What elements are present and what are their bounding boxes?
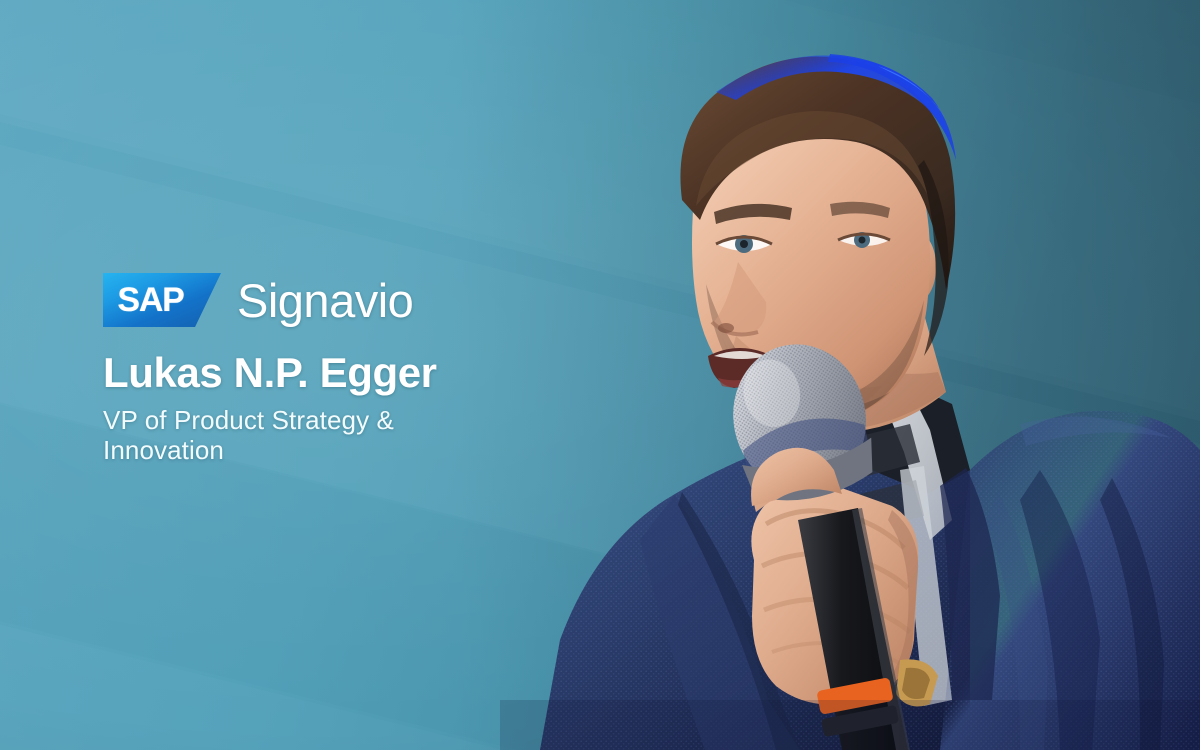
speaker-photo <box>500 0 1200 750</box>
speaker-title-line-1: VP of Product Strategy & <box>103 405 394 435</box>
speaker-info-overlay: SAP Signavio Lukas N.P. Egger VP of Prod… <box>103 272 573 465</box>
speaker-title-line-2: Innovation <box>103 435 224 465</box>
brand-lockup: SAP Signavio <box>103 272 573 328</box>
product-name: Signavio <box>237 277 413 324</box>
sap-logo-text: SAP <box>103 273 195 327</box>
speaker-title: VP of Product Strategy & Innovation <box>103 405 495 465</box>
sap-logo: SAP <box>103 273 221 327</box>
speaker-title-card: SAP Signavio Lukas N.P. Egger VP of Prod… <box>0 0 1200 750</box>
speaker-name: Lukas N.P. Egger <box>103 352 573 395</box>
